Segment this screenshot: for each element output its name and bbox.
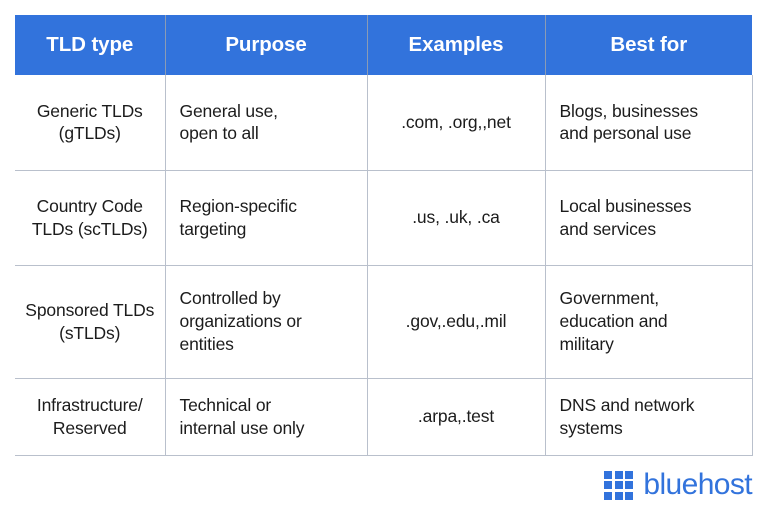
- table-body: Generic TLDs (gTLDs) General use, open t…: [15, 75, 752, 455]
- cell-purpose: Controlled by organizations or entities: [165, 265, 367, 378]
- cell-text-line: targeting: [180, 218, 358, 241]
- cell-text-line: Reserved: [24, 417, 156, 440]
- cell-best-for: Blogs, businesses and personal use: [545, 75, 752, 170]
- cell-text-line: Local businesses: [560, 195, 743, 218]
- cell-text-line: Controlled by: [180, 287, 358, 310]
- cell-examples: .us, .uk, .ca: [367, 170, 545, 265]
- tld-table-container: TLD type Purpose Examples Best for Gener…: [15, 15, 752, 456]
- page-root: TLD type Purpose Examples Best for Gener…: [0, 0, 768, 512]
- cell-purpose: General use, open to all: [165, 75, 367, 170]
- column-header-examples: Examples: [367, 15, 545, 75]
- table-row: Generic TLDs (gTLDs) General use, open t…: [15, 75, 752, 170]
- grid-cell: [625, 481, 633, 489]
- cell-text-line: Technical or: [180, 394, 358, 417]
- cell-text-line: Infrastructure/: [24, 394, 156, 417]
- column-header-best-for: Best for: [545, 15, 752, 75]
- grid-3x3-icon: [604, 471, 633, 500]
- cell-text-line: (gTLDs): [24, 122, 156, 145]
- cell-text-line: Region-specific: [180, 195, 358, 218]
- column-header-tld-type: TLD type: [15, 15, 165, 75]
- grid-cell: [625, 492, 633, 500]
- cell-text-line: .us, .uk, .ca: [377, 206, 536, 229]
- cell-tld-type: Sponsored TLDs (sTLDs): [15, 265, 165, 378]
- grid-cell: [604, 481, 612, 489]
- tld-comparison-table: TLD type Purpose Examples Best for Gener…: [15, 15, 753, 456]
- cell-best-for: Government, education and military: [545, 265, 752, 378]
- cell-text-line: DNS and network: [560, 394, 743, 417]
- table-header: TLD type Purpose Examples Best for: [15, 15, 752, 75]
- cell-best-for: DNS and network systems: [545, 378, 752, 455]
- cell-examples: .com, .org,,net: [367, 75, 545, 170]
- cell-text-line: organizations or: [180, 310, 358, 333]
- grid-cell: [625, 471, 633, 479]
- cell-text-line: Blogs, businesses: [560, 100, 743, 123]
- cell-text-line: military: [560, 333, 743, 356]
- column-header-purpose: Purpose: [165, 15, 367, 75]
- grid-cell: [604, 492, 612, 500]
- grid-cell: [615, 471, 623, 479]
- cell-text-line: .gov,.edu,.mil: [377, 310, 536, 333]
- cell-text-line: and services: [560, 218, 743, 241]
- cell-text-line: open to all: [180, 122, 358, 145]
- grid-cell: [615, 481, 623, 489]
- cell-text-line: .com, .org,,net: [377, 111, 536, 134]
- table-row: Country Code TLDs (scTLDs) Region-specif…: [15, 170, 752, 265]
- table-row: Sponsored TLDs (sTLDs) Controlled by org…: [15, 265, 752, 378]
- bluehost-logo: bluehost: [604, 470, 752, 500]
- cell-text-line: Generic TLDs: [24, 100, 156, 123]
- cell-tld-type: Country Code TLDs (scTLDs): [15, 170, 165, 265]
- cell-text-line: (sTLDs): [24, 322, 156, 345]
- cell-text-line: Government,: [560, 287, 743, 310]
- cell-tld-type: Generic TLDs (gTLDs): [15, 75, 165, 170]
- cell-text-line: entities: [180, 333, 358, 356]
- cell-text-line: and personal use: [560, 122, 743, 145]
- brand-wordmark: bluehost: [643, 470, 752, 500]
- cell-text-line: Sponsored TLDs: [24, 299, 156, 322]
- cell-examples: .gov,.edu,.mil: [367, 265, 545, 378]
- grid-cell: [615, 492, 623, 500]
- table-header-row: TLD type Purpose Examples Best for: [15, 15, 752, 75]
- cell-text-line: education and: [560, 310, 743, 333]
- grid-cell: [604, 471, 612, 479]
- cell-text-line: Country Code: [24, 195, 156, 218]
- cell-text-line: systems: [560, 417, 743, 440]
- cell-purpose: Technical or internal use only: [165, 378, 367, 455]
- cell-text-line: TLDs (scTLDs): [24, 218, 156, 241]
- cell-text-line: .arpa,.test: [377, 405, 536, 428]
- cell-examples: .arpa,.test: [367, 378, 545, 455]
- cell-best-for: Local businesses and services: [545, 170, 752, 265]
- cell-purpose: Region-specific targeting: [165, 170, 367, 265]
- cell-text-line: internal use only: [180, 417, 358, 440]
- table-row: Infrastructure/ Reserved Technical or in…: [15, 378, 752, 455]
- cell-tld-type: Infrastructure/ Reserved: [15, 378, 165, 455]
- cell-text-line: General use,: [180, 100, 358, 123]
